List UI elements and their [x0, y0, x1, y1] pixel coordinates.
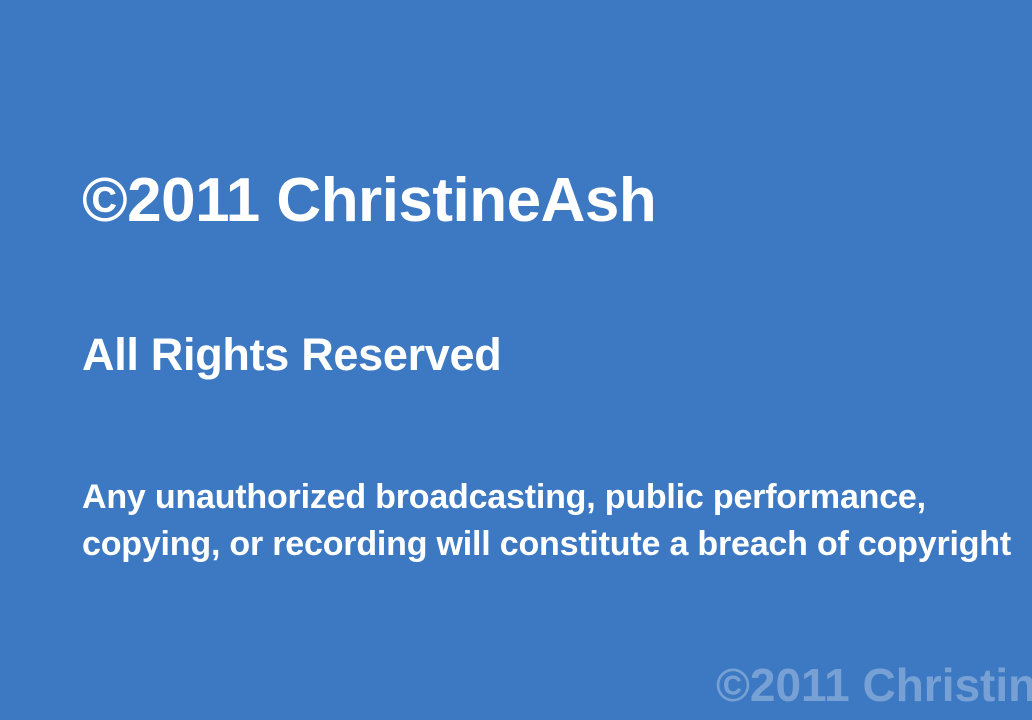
usage-notice-line-1: Any unauthorized broadcasting, public pe… [82, 474, 1032, 521]
usage-notice-line-2: copying, or recording will constitute a … [82, 521, 1032, 568]
copyright-slide: ©2011 ChristineAsh All Rights Reserved A… [0, 0, 1032, 720]
copyright-watermark: ©2011 ChristineAsh [716, 662, 1032, 708]
copyright-title: ©2011 ChristineAsh [82, 170, 656, 232]
usage-notice: Any unauthorized broadcasting, public pe… [82, 474, 1032, 568]
rights-reserved-heading: All Rights Reserved [82, 332, 501, 377]
